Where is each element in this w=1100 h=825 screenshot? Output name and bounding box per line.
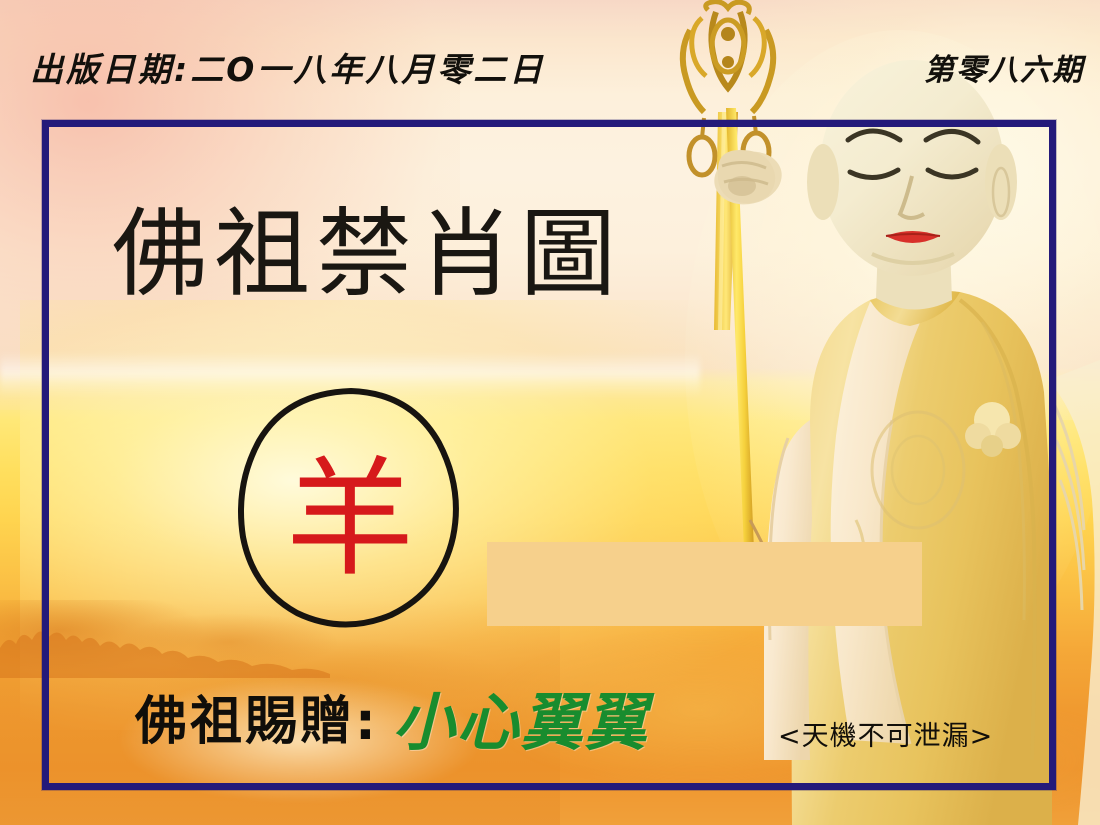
issue-number: 第零八六期 (924, 45, 1084, 89)
page-title: 佛祖禁肖圖 (112, 206, 622, 302)
blessing-label: 佛祖賜贈: (135, 696, 379, 748)
redacted-block (487, 542, 922, 626)
fortune-poster: 出版日期:二O一八年八月零二日 第零八六期 佛祖禁肖圖 羊 佛祖賜贈: 小心翼翼… (0, 0, 1100, 825)
secret-note: <天機不可泄漏> (778, 714, 993, 753)
blessing-value: 小心翼翼 (393, 692, 649, 754)
zodiac-circle-badge: 羊 (235, 385, 465, 635)
blessing-line: 佛祖賜贈: 小心翼翼 (135, 686, 649, 748)
publication-date: 出版日期:二O一八年八月零二日 (30, 43, 545, 91)
zodiac-character: 羊 (235, 385, 465, 635)
